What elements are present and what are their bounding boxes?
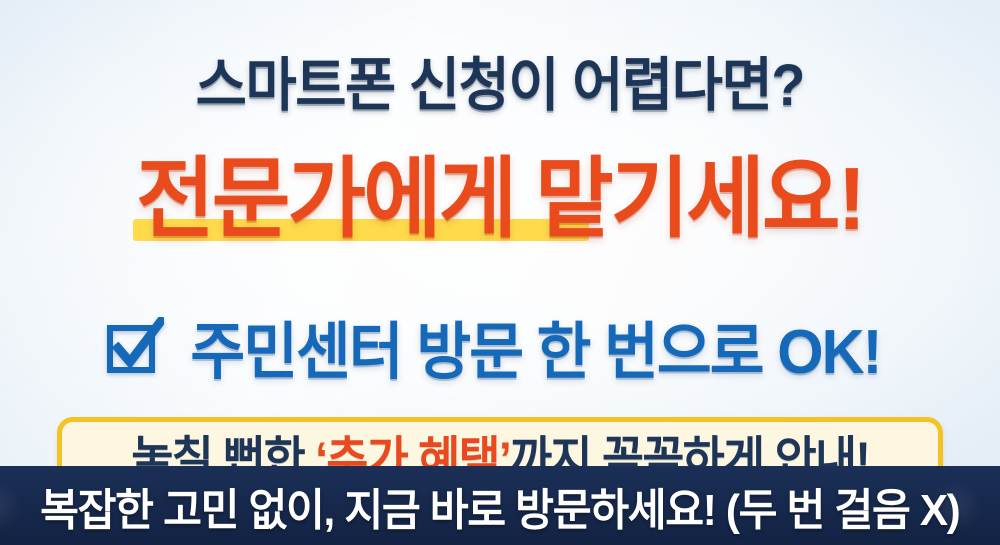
bottom-cta-bar: 복잡한 고민 없이, 지금 바로 방문하세요! (두 번 걸음 X) (0, 466, 1000, 545)
promo-banner: 스마트폰 신청이 어렵다면? 전문가에게 맡기세요! 주민센터 방문 한 번으로… (0, 0, 1000, 545)
banner-content-stack: 스마트폰 신청이 어렵다면? 전문가에게 맡기세요! 주민센터 방문 한 번으로… (0, 0, 1000, 466)
check-line-label: 주민센터 방문 한 번으로 OK! (190, 301, 880, 391)
checkbox-checked-icon (106, 317, 164, 375)
bottom-cta-text: 복잡한 고민 없이, 지금 바로 방문하세요! (두 번 걸음 X) (40, 474, 959, 538)
headline-main-wrapper: 전문가에게 맡기세요! (125, 128, 874, 255)
headline-main: 전문가에게 맡기세요! (137, 128, 864, 255)
sparkle-left-icon (0, 480, 22, 532)
headline-question: 스마트폰 신청이 어렵다면? (196, 38, 804, 122)
check-line: 주민센터 방문 한 번으로 OK! (106, 301, 895, 391)
